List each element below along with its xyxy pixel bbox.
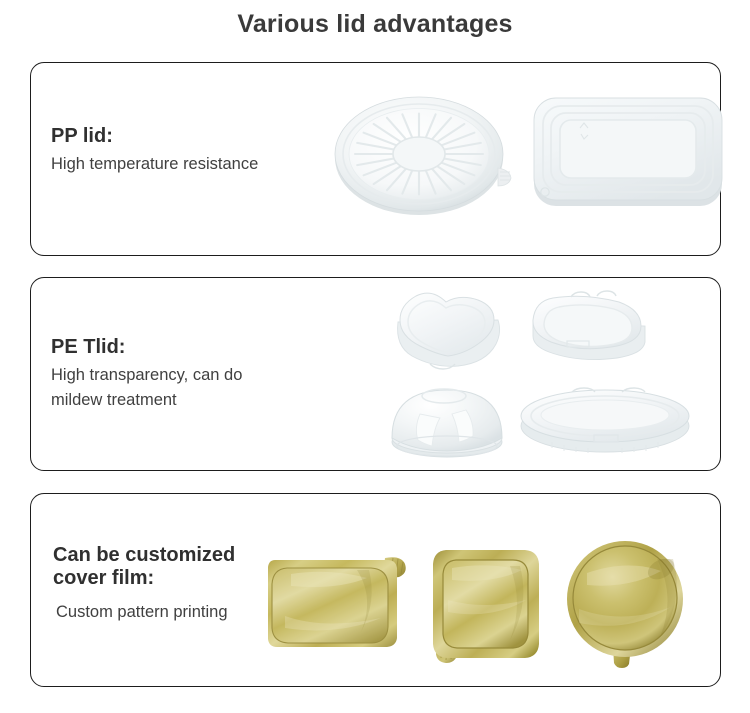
panel-cover-film-subtext: Custom pattern printing xyxy=(56,600,235,625)
gold-round-cover-film-image xyxy=(561,539,691,667)
panel-pe-tlid-heading: PE Tlid: xyxy=(51,336,242,359)
panel-pp-lid-subtext: High temperature resistance xyxy=(51,152,258,177)
panel-pp-lid: PP lid: High temperature resistance xyxy=(30,62,721,256)
panel-pp-lid-heading: PP lid: xyxy=(51,125,258,148)
rectangular-pp-lid-image xyxy=(524,88,729,213)
panel-cover-film-text: Can be customized cover film: Custom pat… xyxy=(53,544,235,625)
panel-pe-tlid-subtext: High transparency, can do mildew treatme… xyxy=(51,363,242,413)
panel-cover-film: Can be customized cover film: Custom pat… xyxy=(30,493,721,687)
heart-shaped-pe-lid-image xyxy=(386,288,508,370)
panel-pe-tlid: PE Tlid: High transparency, can do milde… xyxy=(30,277,721,471)
page-title: Various lid advantages xyxy=(0,10,750,39)
oval-pe-lid-image xyxy=(518,378,693,458)
panel-pp-lid-text: PP lid: High temperature resistance xyxy=(51,125,258,177)
panel-cover-film-heading: Can be customized cover film: xyxy=(53,544,235,590)
gold-rectangular-cover-film-image xyxy=(261,544,416,662)
infographic-page: Various lid advantages PP lid: High temp… xyxy=(0,0,750,713)
round-pp-lid-image xyxy=(331,88,511,218)
panel-pe-tlid-text: PE Tlid: High transparency, can do milde… xyxy=(51,336,242,413)
dome-pe-lid-image xyxy=(386,378,508,460)
gold-square-cover-film-image xyxy=(426,544,556,666)
square-pe-lid-image xyxy=(523,288,653,368)
